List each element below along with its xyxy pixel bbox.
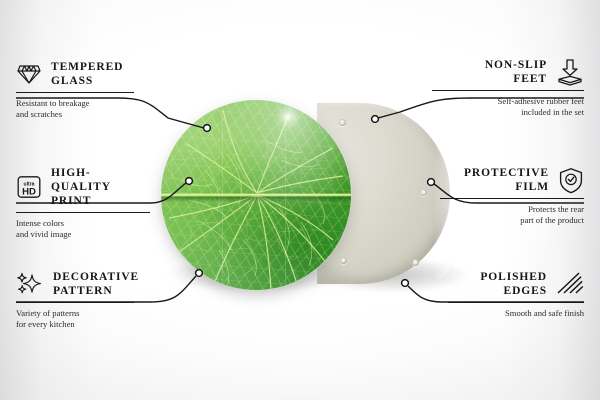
- diamond-icon: [16, 62, 42, 86]
- callout-rule: [16, 212, 150, 213]
- callout-rule: [432, 90, 584, 91]
- ultra-hd-badge-large-text: HD: [22, 186, 36, 197]
- callout-subtitle: Resistant to breakage and scratches: [16, 98, 134, 120]
- callout-rule: [16, 302, 134, 303]
- round-glass-cutting-board-leaf-print: [161, 100, 351, 290]
- callout-protective-film[interactable]: PROTECTIVE FILM Protects the rear part o…: [440, 166, 584, 226]
- callout-subtitle: Protects the rear part of the product: [440, 204, 584, 226]
- rubber-foot: [420, 189, 427, 196]
- diagonal-lines-icon: [556, 272, 584, 296]
- arrow-down-onto-pad-icon: [556, 58, 584, 86]
- callout-rule: [448, 302, 584, 303]
- callout-subtitle: Smooth and safe finish: [448, 308, 584, 319]
- callout-high-quality-print[interactable]: ultra HD HIGH-QUALITY PRINT Intense colo…: [16, 166, 150, 240]
- glass-highlight-glint: [275, 104, 301, 130]
- callout-title: PROTECTIVE FILM: [464, 166, 549, 194]
- shield-check-icon: [558, 167, 584, 194]
- rubber-foot: [412, 259, 419, 266]
- callout-tempered-glass[interactable]: TEMPERED GLASS Resistant to breakage and…: [16, 60, 134, 120]
- callout-rule: [440, 198, 584, 199]
- callout-subtitle: Intense colors and vivid image: [16, 218, 150, 240]
- callout-rule: [16, 92, 134, 93]
- callout-subtitle: Variety of patterns for every kitchen: [16, 308, 134, 330]
- callout-polished-edges[interactable]: POLISHED EDGES Smooth and safe finish: [448, 270, 584, 319]
- callout-decorative-pattern[interactable]: DECORATIVE PATTERN Variety of patterns f…: [16, 270, 134, 330]
- glass-reflection: [161, 100, 351, 290]
- callout-title: DECORATIVE PATTERN: [53, 270, 139, 298]
- callout-title: NON-SLIP FEET: [485, 58, 547, 86]
- callout-non-slip-feet[interactable]: NON-SLIP FEET Self-adhesive rubber feet …: [432, 58, 584, 118]
- callout-title: TEMPERED GLASS: [51, 60, 123, 88]
- infographic-canvas: TEMPERED GLASS Resistant to breakage and…: [0, 0, 600, 400]
- ultra-hd-badge-icon: ultra HD: [16, 174, 42, 200]
- sparkles-icon: [16, 271, 44, 297]
- callout-title: HIGH-QUALITY PRINT: [51, 166, 150, 208]
- callout-title: POLISHED EDGES: [480, 270, 547, 298]
- callout-subtitle: Self-adhesive rubber feet included in th…: [432, 96, 584, 118]
